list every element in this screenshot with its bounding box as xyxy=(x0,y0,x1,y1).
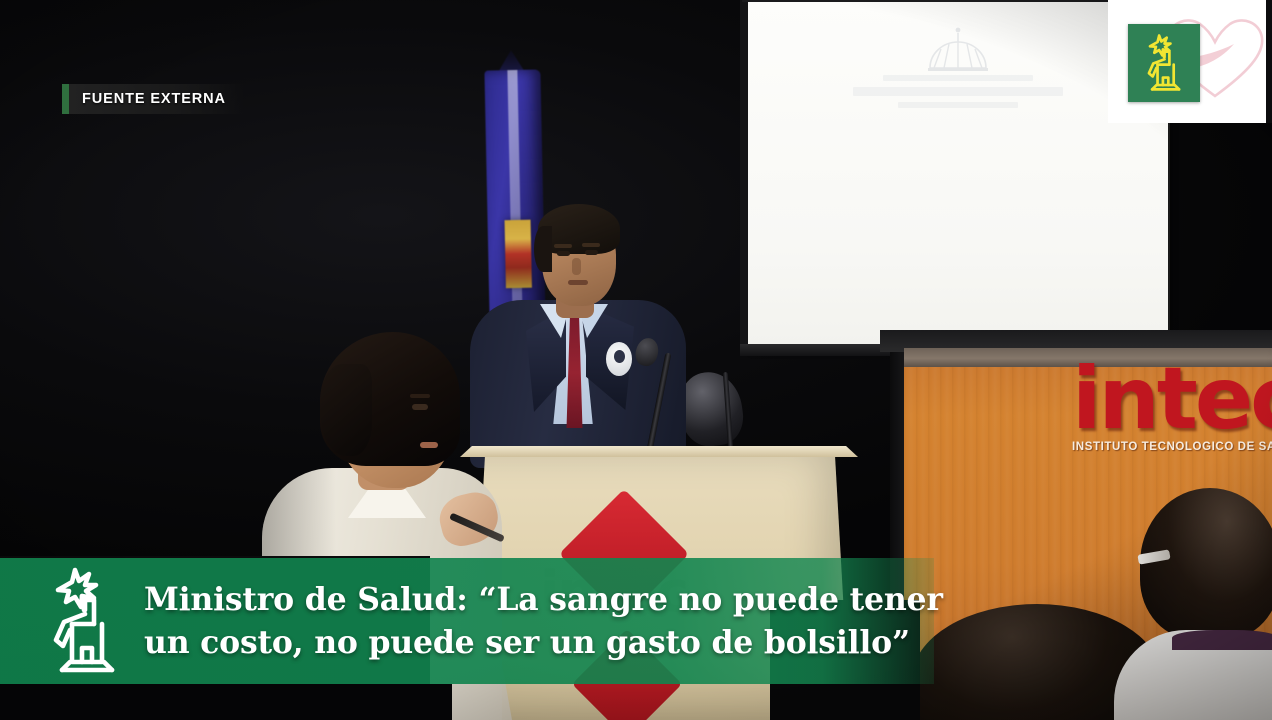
wood-panel-trim xyxy=(904,348,1272,367)
woman-eye xyxy=(412,404,428,410)
headline-line-2: un costo, no puede ser un gasto de bolsi… xyxy=(144,621,943,664)
audience-1-head xyxy=(1140,488,1272,640)
speaker-eye-left xyxy=(557,251,570,256)
credit-accent-bar xyxy=(62,84,69,114)
government-crest-watermark-icon xyxy=(853,26,1063,108)
lower-third-headline: Ministro de Salud: “La sangre no puede t… xyxy=(138,578,961,665)
screen-frame-left xyxy=(740,0,748,356)
speaker-nose xyxy=(572,258,581,275)
lower-third-banner: Ministro de Salud: “La sangre no puede t… xyxy=(0,558,934,684)
audience-1-collar xyxy=(1172,630,1272,650)
speaker-hair-side xyxy=(534,226,552,272)
woman-lips xyxy=(420,442,438,448)
speaker-mouth xyxy=(568,280,588,285)
bottom-black-strip xyxy=(0,684,452,720)
headline-line-1: Ministro de Salud: “La sangre no puede t… xyxy=(144,578,943,621)
source-credit-badge: FUENTE EXTERNA xyxy=(62,84,244,114)
speaker-eyebrow-left xyxy=(554,244,572,248)
credit-label: FUENTE EXTERNA xyxy=(69,84,244,114)
liberty-torch-figure-icon xyxy=(30,565,138,677)
speaker-eyebrow-right xyxy=(582,243,600,247)
logo-green-square xyxy=(1128,24,1200,102)
woman-eyebrow xyxy=(410,394,430,398)
channel-logo-bug xyxy=(1108,0,1272,123)
speaker-lapel-pin-center xyxy=(614,350,625,363)
audience-person-with-glasses xyxy=(1124,488,1272,720)
lectern-top-surface xyxy=(460,446,858,457)
projection-screen xyxy=(748,0,1168,348)
video-frame-screenshot: intec INSTITUTO TECNOLOGICO DE SA xyxy=(0,0,1272,720)
speaker-eye-right xyxy=(585,250,598,255)
woman-hair-bun xyxy=(320,364,372,456)
